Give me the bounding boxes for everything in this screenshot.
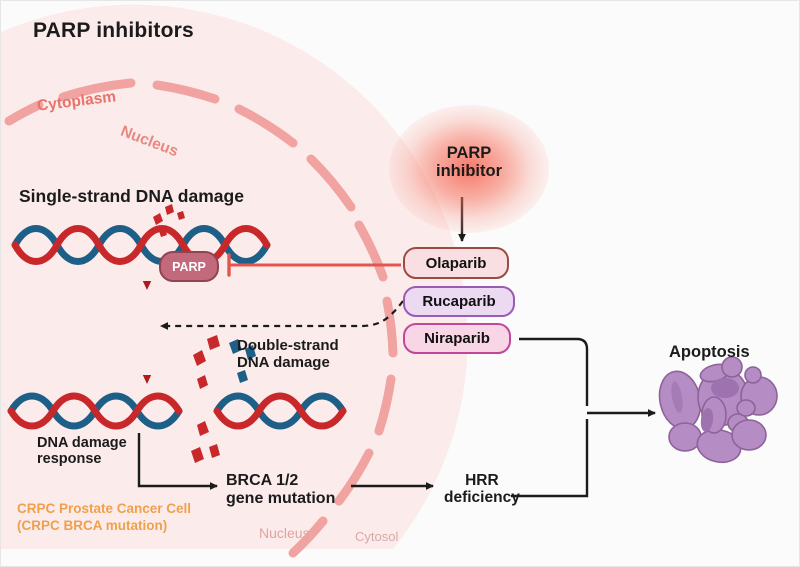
apoptotic-cell — [654, 357, 777, 466]
dna-damage-response-label: DNA damage response — [37, 435, 127, 467]
cytosol-label: Cytosol — [355, 529, 398, 544]
brca-line1: BRCA 1/2 — [226, 472, 298, 489]
parp-inhibitor-line2: inhibitor — [436, 162, 502, 180]
brca-mutation-label: BRCA 1/2 gene mutation — [226, 472, 335, 508]
apoptosis-merge-bracket — [511, 339, 655, 496]
single-strand-damage-label: Single-strand DNA damage — [19, 187, 244, 207]
parp-protein-badge: PARP — [159, 251, 219, 282]
hrr-deficiency-label: HRR deficiency — [444, 472, 520, 507]
drug-pill-niraparib[interactable]: Niraparib — [403, 323, 511, 354]
double-strand-line2: DNA damage — [237, 354, 330, 371]
diagram-svg — [1, 1, 800, 567]
parp-inhibitor-label: PARP inhibitor — [423, 144, 515, 181]
nucleus-label-bottom: Nucleus — [259, 525, 310, 541]
drug-pill-rucaparib[interactable]: Rucaparib — [403, 286, 515, 317]
double-strand-damage-label: Double-strand DNA damage — [237, 338, 339, 372]
page-title: PARP inhibitors — [33, 19, 194, 43]
ddr-line2: response — [37, 451, 101, 467]
parp-inhibitor-line1: PARP — [447, 144, 492, 162]
diagram-canvas: PARP inhibitors Cytoplasm Nucleus Nucleu… — [0, 0, 800, 567]
cell-type-line2: (CRPC BRCA mutation) — [17, 518, 167, 533]
cell-type-label: CRPC Prostate Cancer Cell (CRPC BRCA mut… — [17, 501, 191, 535]
drug-pill-olaparib[interactable]: Olaparib — [403, 247, 509, 279]
cell-type-line1: CRPC Prostate Cancer Cell — [17, 501, 191, 516]
apoptosis-label: Apoptosis — [669, 343, 750, 361]
double-strand-line1: Double-strand — [237, 337, 339, 354]
ddr-line1: DNA damage — [37, 435, 127, 451]
brca-line2: gene mutation — [226, 490, 335, 507]
hrr-line1: HRR — [465, 472, 499, 489]
hrr-line2: deficiency — [444, 489, 520, 506]
